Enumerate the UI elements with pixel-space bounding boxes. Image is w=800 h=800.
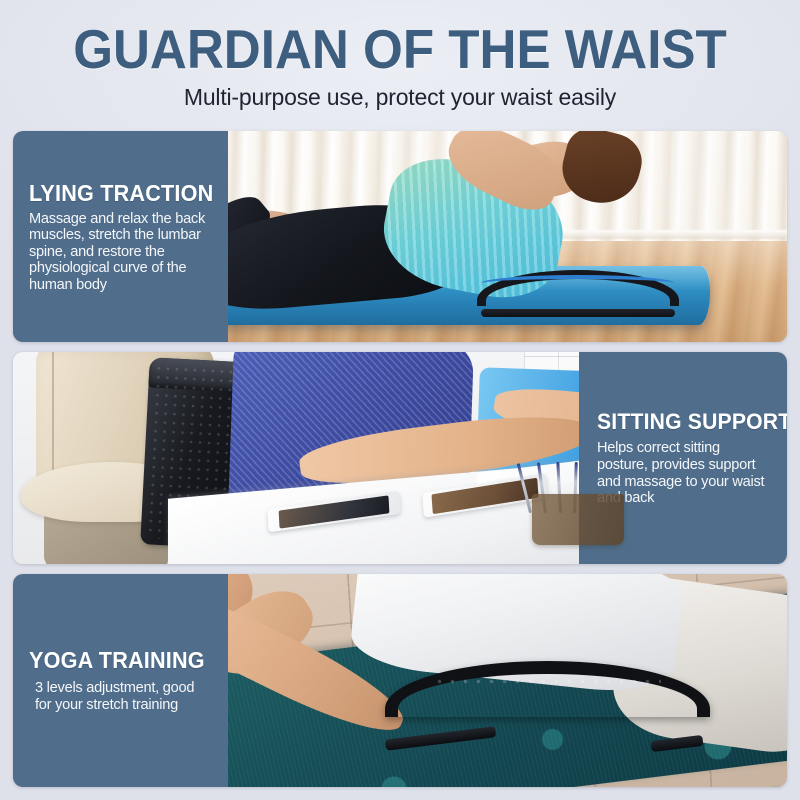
page-title: GUARDIAN OF THE WAIST (28, 20, 772, 78)
device-base-left (384, 726, 495, 750)
panel-title-lying-traction: LYING TRACTION (29, 180, 203, 206)
feature-panel-lying-traction: LYING TRACTION Massage and relax the bac… (13, 131, 787, 342)
device-arch (477, 270, 678, 306)
page-header: GUARDIAN OF THE WAIST Multi-purpose use,… (0, 0, 800, 122)
back-stretcher-device (477, 270, 678, 316)
feature-panel-sitting-support: SITTING SUPPORT Helps correct sitting po… (13, 352, 787, 564)
device-arch (385, 661, 710, 716)
chair-seam (52, 352, 54, 475)
overlay-yoga-training: YOGA TRAINING 3 levels adjustment, good … (13, 574, 228, 787)
page-subtitle: Multi-purpose use, protect your waist ea… (0, 83, 800, 111)
panel-title-yoga-training: YOGA TRAINING (29, 647, 203, 673)
feature-panel-yoga-training: YOGA TRAINING 3 levels adjustment, good … (13, 574, 787, 787)
device-base (481, 309, 674, 317)
device-base-right (651, 735, 704, 752)
panel-body-lying-traction: Massage and relax the back muscles, stre… (29, 211, 214, 294)
panel-title-sitting-support: SITTING SUPPORT (597, 409, 762, 435)
overlay-lying-traction: LYING TRACTION Massage and relax the bac… (13, 131, 228, 342)
back-stretcher-device (385, 661, 710, 750)
device-massage-nodes (433, 675, 660, 685)
pen-holder (532, 494, 625, 545)
infographic-page: GUARDIAN OF THE WAIST Multi-purpose use,… (0, 0, 800, 800)
panel-body-yoga-training: 3 levels adjustment, good for your stret… (29, 680, 214, 715)
